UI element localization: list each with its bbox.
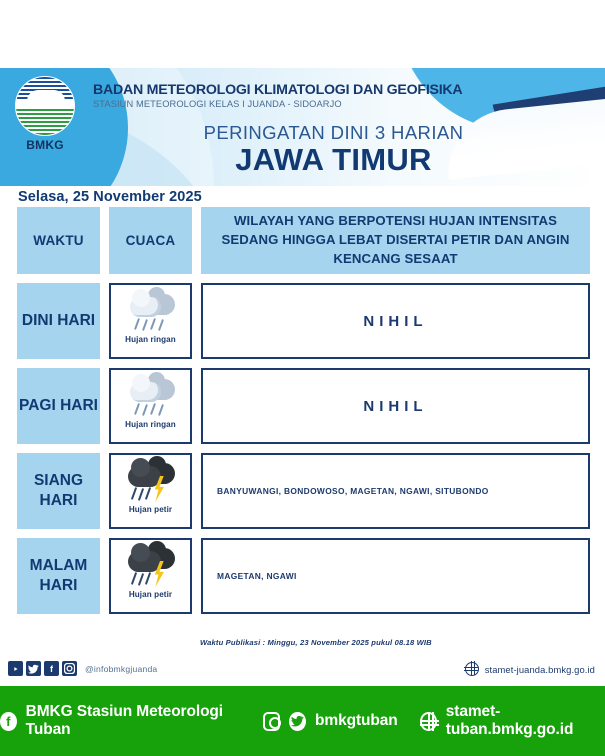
organization-name: BADAN METEOROLOGI KLIMATOLOGI DAN GEOFIS… bbox=[93, 82, 462, 98]
header-banner: BMKG BADAN METEOROLOGI KLIMATOLOGI DAN G… bbox=[0, 68, 605, 186]
row-weather-label: Hujan ringan bbox=[125, 420, 176, 429]
row-weather-cell: Hujan petir bbox=[109, 538, 192, 614]
forecast-date: Selasa, 25 November 2025 bbox=[18, 189, 202, 205]
row-time-label: DINI HARI bbox=[17, 283, 100, 359]
row-weather-cell: Hujan ringan bbox=[109, 368, 192, 444]
facebook-icon[interactable]: f bbox=[0, 712, 17, 731]
social-handle: @infobmkgjuanda bbox=[85, 664, 157, 674]
youtube-icon[interactable] bbox=[8, 661, 23, 676]
row-time-label: PAGI HARI bbox=[17, 368, 100, 444]
row-time-label: SIANG HARI bbox=[17, 453, 100, 529]
row-weather-label: Hujan ringan bbox=[125, 335, 176, 344]
table-row: MALAM HARI Hujan petir MAGETAN, NGAWI bbox=[17, 538, 590, 614]
footer-website-url: stamet-tuban.bmkg.go.id bbox=[446, 703, 605, 739]
social-strip: f @infobmkgjuanda stamet-juanda.bmkg.go.… bbox=[0, 658, 605, 686]
twitter-icon[interactable] bbox=[289, 712, 306, 731]
twitter-icon[interactable] bbox=[26, 661, 41, 676]
footer-bar: f BMKG Stasiun Meteorologi Tuban bmkgtub… bbox=[0, 686, 605, 756]
footer-social-handle: bmkgtuban bbox=[315, 712, 398, 730]
row-region-text: BANYUWANGI, BONDOWOSO, MAGETAN, NGAWI, S… bbox=[217, 486, 489, 496]
column-header-wilayah: WILAYAH YANG BERPOTENSI HUJAN INTENSITAS… bbox=[201, 207, 590, 274]
row-time-label: MALAM HARI bbox=[17, 538, 100, 614]
page-title: JAWA TIMUR bbox=[0, 142, 605, 178]
row-weather-cell: Hujan ringan bbox=[109, 283, 192, 359]
footer-facebook-label: BMKG Stasiun Meteorologi Tuban bbox=[26, 703, 242, 739]
row-region-cell: MAGETAN, NGAWI bbox=[201, 538, 590, 614]
row-weather-label: Hujan petir bbox=[129, 505, 172, 514]
row-weather-cell: Hujan petir bbox=[109, 453, 192, 529]
page-subtitle: PERINGATAN DINI 3 HARIAN bbox=[0, 122, 605, 144]
forecast-table: WAKTU CUACA WILAYAH YANG BERPOTENSI HUJA… bbox=[17, 207, 590, 614]
organization-subtitle: STASIUN METEOROLOGI KELAS I JUANDA - SID… bbox=[93, 99, 342, 109]
row-region-text: MAGETAN, NGAWI bbox=[217, 571, 297, 581]
social-accounts-group: f @infobmkgjuanda bbox=[8, 661, 157, 676]
light-rain-icon bbox=[123, 375, 179, 419]
table-row: PAGI HARI Hujan ringan NIHIL bbox=[17, 368, 590, 444]
light-rain-icon bbox=[123, 290, 179, 334]
column-header-cuaca: CUACA bbox=[109, 207, 192, 274]
thunderstorm-icon bbox=[123, 460, 179, 504]
globe-icon[interactable] bbox=[420, 712, 437, 731]
instagram-icon[interactable] bbox=[263, 712, 280, 731]
facebook-icon[interactable]: f bbox=[44, 661, 59, 676]
row-region-cell: NIHIL bbox=[201, 368, 590, 444]
table-row: SIANG HARI Hujan petir BANYUWANGI, BONDO… bbox=[17, 453, 590, 529]
row-region-text: NIHIL bbox=[217, 313, 574, 330]
website-url: stamet-juanda.bmkg.go.id bbox=[485, 664, 595, 675]
column-header-waktu: WAKTU bbox=[17, 207, 100, 274]
row-region-cell: NIHIL bbox=[201, 283, 590, 359]
website-group[interactable]: stamet-juanda.bmkg.go.id bbox=[465, 662, 595, 676]
instagram-icon[interactable] bbox=[62, 661, 77, 676]
thunderstorm-icon bbox=[123, 545, 179, 589]
publication-time-note: Waktu Publikasi : Minggu, 23 November 20… bbox=[200, 638, 432, 647]
row-weather-label: Hujan petir bbox=[129, 590, 172, 599]
infographic-page: BMKG BADAN METEOROLOGI KLIMATOLOGI DAN G… bbox=[0, 0, 605, 756]
row-region-text: NIHIL bbox=[217, 398, 574, 415]
row-region-cell: BANYUWANGI, BONDOWOSO, MAGETAN, NGAWI, S… bbox=[201, 453, 590, 529]
logo-cloud-base bbox=[21, 99, 71, 109]
table-row: DINI HARI Hujan ringan NIHIL bbox=[17, 283, 590, 359]
table-header-row: WAKTU CUACA WILAYAH YANG BERPOTENSI HUJA… bbox=[17, 207, 590, 274]
globe-icon bbox=[465, 662, 479, 676]
